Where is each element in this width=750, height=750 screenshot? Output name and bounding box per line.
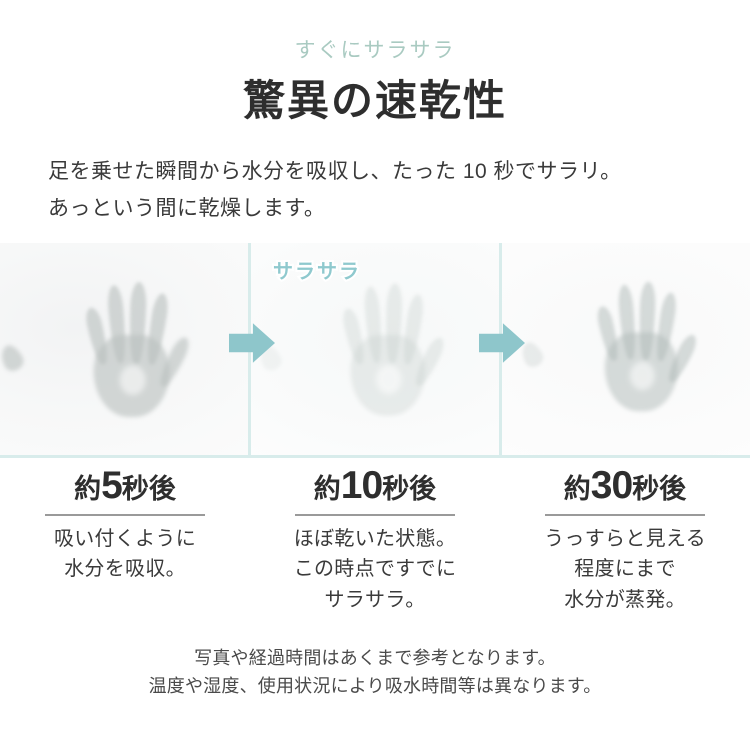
caption-body: うっすらと見える 程度にまで 水分が蒸発。: [500, 524, 750, 615]
caption-number: 10: [341, 464, 382, 507]
caption-prefix: 約: [564, 474, 591, 504]
caption-30-seconds: 約30秒後 うっすらと見える 程度にまで 水分が蒸発。: [500, 466, 750, 615]
caption-heading: 約30秒後: [500, 466, 750, 507]
caption-body-line: この時点ですでに: [250, 554, 500, 584]
photo-panel-30-seconds: [499, 243, 750, 455]
handprint-faint: [325, 275, 450, 424]
caption-suffix: 秒後: [382, 474, 436, 504]
footnote-line: 温度や湿度、使用状況により吸水時間等は異なります。: [0, 673, 750, 701]
caption-heading: 約10秒後: [250, 466, 500, 507]
photo-comparison-strip: サラサラ: [0, 243, 750, 458]
page-subtitle: すぐにサラサラ: [0, 40, 750, 61]
palm-highlight: [120, 365, 146, 395]
caption-prefix: 約: [314, 474, 341, 504]
caption-row: 約5秒後 吸い付くように 水分を吸収。 約10秒後 ほぼ乾いた状態。 この時点で…: [0, 466, 750, 615]
caption-body-line: 水分が蒸発。: [500, 585, 750, 615]
footnote: 写真や経過時間はあくまで参考となります。 温度や湿度、使用状況により吸水時間等は…: [0, 645, 750, 701]
caption-underline: [45, 514, 205, 516]
intro-line: 足を乗せた瞬間から水分を吸収し、たった 10 秒でサラリ。: [48, 154, 702, 191]
photo-panel-5-seconds: [0, 243, 248, 455]
photo-panel-10-seconds: サラサラ: [248, 243, 499, 455]
intro-line: あっという間に乾燥します。: [48, 191, 702, 228]
caption-number: 30: [591, 464, 632, 507]
caption-body: ほぼ乾いた状態。 この時点ですでに サラサラ。: [250, 524, 500, 615]
caption-prefix: 約: [74, 474, 101, 504]
palm-highlight: [376, 365, 401, 394]
caption-5-seconds: 約5秒後 吸い付くように 水分を吸収。: [0, 466, 250, 615]
caption-body-line: ほぼ乾いた状態。: [250, 524, 500, 554]
caption-body-line: うっすらと見える: [500, 524, 750, 554]
caption-body-line: サラサラ。: [250, 585, 500, 615]
caption-heading: 約5秒後: [0, 466, 250, 507]
caption-body-line: 吸い付くように: [0, 524, 250, 554]
caption-number: 5: [101, 464, 122, 507]
intro-paragraph: 足を乗せた瞬間から水分を吸収し、たった 10 秒でサラリ。 あっという間に乾燥し…: [0, 154, 750, 228]
sarasara-sticker-label: サラサラ: [273, 255, 361, 284]
caption-underline: [545, 514, 705, 516]
palm-highlight: [630, 361, 655, 390]
caption-body-line: 水分を吸収。: [0, 554, 250, 584]
caption-body: 吸い付くように 水分を吸収。: [0, 524, 250, 585]
page-title: 驚異の速乾性: [0, 80, 750, 122]
caption-10-seconds: 約10秒後 ほぼ乾いた状態。 この時点ですでに サラサラ。: [250, 466, 500, 615]
caption-suffix: 秒後: [122, 474, 176, 504]
page-header: すぐにサラサラ 驚異の速乾性: [0, 0, 750, 122]
caption-underline: [295, 514, 455, 516]
caption-body-line: 程度にまで: [500, 554, 750, 584]
handprint-very-faint: [580, 273, 703, 419]
handprint-wet: [68, 273, 196, 425]
caption-suffix: 秒後: [632, 474, 686, 504]
footnote-line: 写真や経過時間はあくまで参考となります。: [0, 645, 750, 673]
